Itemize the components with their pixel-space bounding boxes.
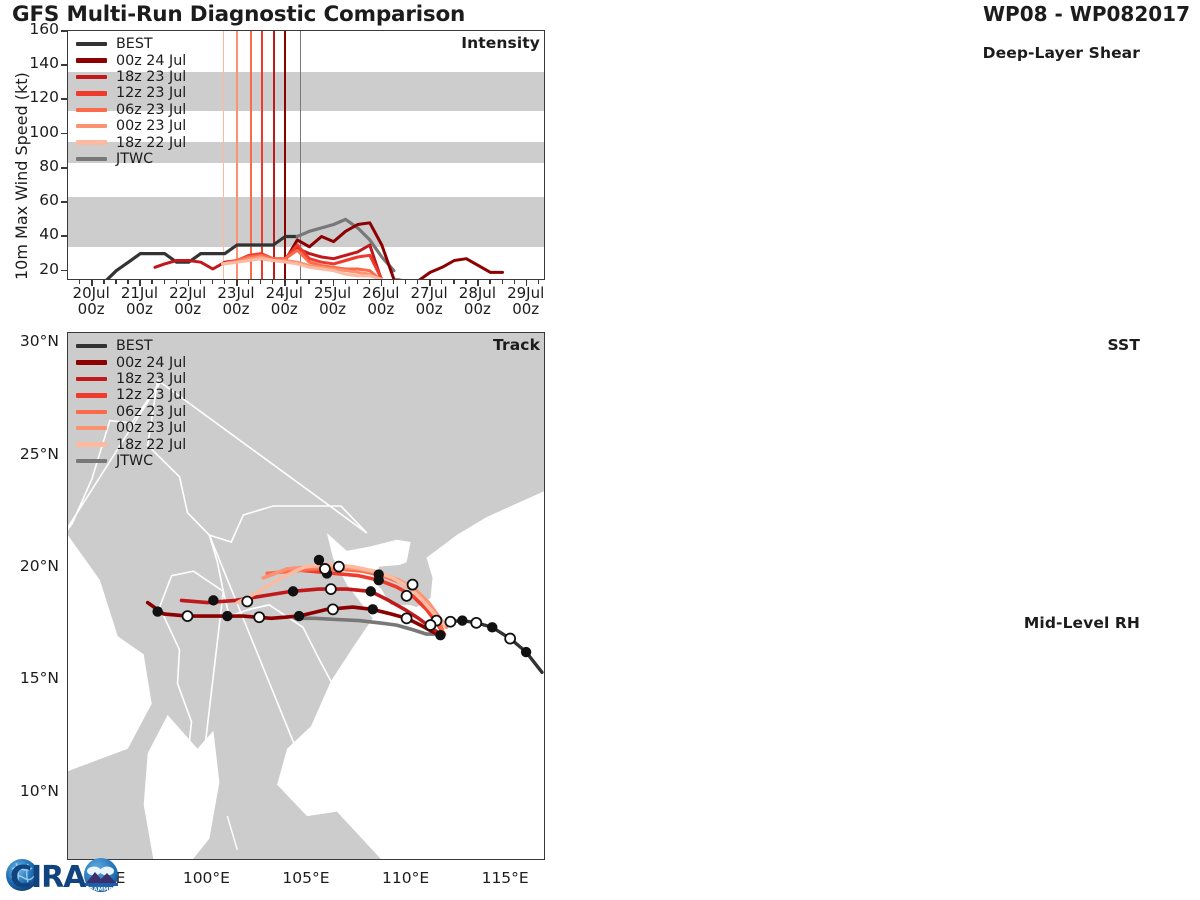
map-lon-tick-label: 100°E: [166, 870, 246, 887]
legend-swatch: [76, 75, 107, 79]
legend-entry-best: BEST: [76, 338, 186, 354]
sst-panel-title: SST: [1107, 336, 1140, 354]
coastline: [227, 816, 237, 850]
panel-track: Track BEST00z 24 Jul18z 23 Jul12z 23 Jul…: [0, 310, 600, 900]
map-lat-tick-label: 10°N: [0, 782, 59, 800]
x-axis-minor-tick: [381, 280, 382, 284]
legend-swatch: [76, 157, 107, 161]
y-axis-tick-mark: [61, 133, 67, 135]
x-axis-minor-tick: [393, 280, 394, 284]
legend-entry-18z-23-jul: 18z 23 Jul: [76, 371, 186, 387]
y-axis-tick-mark: [61, 30, 67, 32]
track-marker-00z: [222, 611, 232, 621]
panel-rh: 700-500 hPa Humidity (%) Mid-Level RH 00…: [600, 600, 1200, 900]
x-axis-minor-tick: [429, 280, 430, 284]
track-marker-00z: [208, 595, 218, 605]
y-axis-tick-mark: [61, 167, 67, 169]
legend-swatch: [76, 91, 107, 95]
track-marker-00z: [368, 604, 378, 614]
track-marker-00z: [457, 615, 467, 625]
x-axis-minor-tick: [272, 280, 273, 284]
panel-shear: 200-850 hPa Shear (kt) Deep-Layer Shear …: [600, 0, 1200, 310]
cira-logo: CIRA RAMMB: [4, 852, 132, 898]
x-axis-minor-tick: [417, 280, 418, 284]
track-marker-12z: [402, 591, 412, 601]
map-lat-tick-label: 15°N: [0, 669, 59, 687]
track-marker-12z: [408, 580, 418, 590]
y-axis-tick-label: 100: [0, 123, 59, 141]
x-axis-minor-tick: [296, 280, 297, 284]
x-axis-minor-tick: [489, 280, 490, 284]
x-axis-minor-tick: [151, 280, 152, 284]
legend-label: 06z 23 Jul: [116, 102, 186, 118]
x-axis-minor-tick: [465, 280, 466, 284]
map-lat-tick-label: 30°N: [0, 332, 59, 350]
y-axis-tick-mark: [61, 270, 67, 272]
legend-entry-06z-23-jul: 06z 23 Jul: [76, 102, 186, 118]
legend-label: BEST: [116, 36, 153, 52]
legend-swatch: [76, 459, 107, 463]
legend-label: 06z 23 Jul: [116, 404, 186, 420]
legend-swatch: [76, 377, 107, 381]
legend-label: 18z 22 Jul: [116, 135, 186, 151]
y-axis-tick-mark: [61, 64, 67, 66]
legend-swatch: [76, 442, 107, 446]
x-axis-minor-tick: [514, 280, 515, 284]
legend-entry-12z-23-jul: 12z 23 Jul: [76, 387, 186, 403]
x-axis-minor-tick: [441, 280, 442, 284]
track-marker-12z: [183, 611, 193, 621]
legend-label: JTWC: [116, 453, 153, 469]
x-axis-minor-tick: [127, 280, 128, 284]
x-axis-minor-tick: [453, 280, 454, 284]
legend-label: 18z 22 Jul: [116, 437, 186, 453]
sea-area: [277, 490, 545, 860]
y-axis-tick-label: 40: [0, 225, 59, 243]
legend-label: 18z 23 Jul: [116, 69, 186, 85]
legend-entry-18z-22-jul: 18z 22 Jul: [76, 134, 186, 150]
track-marker-00z: [487, 622, 497, 632]
track-marker-12z: [328, 604, 338, 614]
track-marker-12z: [402, 613, 412, 623]
x-axis-minor-tick: [284, 280, 285, 284]
gulf-of-thailand-area: [144, 715, 220, 860]
y-axis-tick-mark: [61, 235, 67, 237]
track-marker-12z: [505, 634, 515, 644]
legend-label: 00z 24 Jul: [116, 355, 186, 371]
intensity-legend: BEST00z 24 Jul18z 23 Jul12z 23 Jul06z 23…: [76, 36, 186, 167]
x-axis-minor-tick: [320, 280, 321, 284]
x-axis-minor-tick: [405, 280, 406, 284]
track-marker-12z: [326, 584, 336, 594]
legend-entry-00z-24-jul: 00z 24 Jul: [76, 354, 186, 370]
y-axis-tick-label: 20: [0, 260, 59, 278]
y-axis-tick-label: 120: [0, 88, 59, 106]
x-axis-minor-tick: [139, 280, 140, 284]
legend-entry-00z-23-jul: 00z 23 Jul: [76, 118, 186, 134]
legend-swatch: [76, 108, 107, 112]
legend-label: 00z 24 Jul: [116, 53, 186, 69]
legend-label: 00z 23 Jul: [116, 118, 186, 134]
legend-swatch: [76, 58, 107, 62]
x-axis-minor-tick: [224, 280, 225, 284]
legend-swatch: [76, 344, 107, 348]
y-axis-tick-label: 160: [0, 20, 59, 38]
map-lat-tick-label: 25°N: [0, 445, 59, 463]
x-axis-minor-tick: [212, 280, 213, 284]
bay-of-bengal-area: [68, 535, 152, 771]
y-axis-tick-label: 80: [0, 157, 59, 175]
legend-swatch: [76, 410, 107, 414]
track-marker-00z: [374, 569, 384, 579]
y-axis-tick-label: 140: [0, 54, 59, 72]
x-axis-minor-tick: [176, 280, 177, 284]
legend-entry-00z-23-jul: 00z 23 Jul: [76, 420, 186, 436]
legend-swatch: [76, 140, 107, 144]
panel-intensity: 10m Max Wind Speed (kt) Intensity BEST00…: [0, 0, 600, 310]
track-marker-00z: [435, 630, 445, 640]
y-axis-tick-label: 60: [0, 191, 59, 209]
legend-label: JTWC: [116, 151, 153, 167]
legend-entry-00z-24-jul: 00z 24 Jul: [76, 52, 186, 68]
x-axis-minor-tick: [164, 280, 165, 284]
x-axis-minor-tick: [526, 280, 527, 284]
map-lon-tick-label: 115°E: [465, 870, 545, 887]
track-marker-00z: [152, 606, 162, 616]
legend-label: BEST: [116, 338, 153, 354]
track-marker-12z: [242, 596, 252, 606]
country-border: [249, 605, 269, 610]
svg-text:CIRA: CIRA: [10, 860, 87, 895]
x-axis-minor-tick: [333, 280, 334, 284]
track-marker-00z: [521, 647, 531, 657]
track-marker-00z: [288, 586, 298, 596]
y-axis-tick-mark: [61, 201, 67, 203]
track-marker-12z: [471, 618, 481, 628]
track-marker-12z: [254, 612, 264, 622]
x-axis-minor-tick: [502, 280, 503, 284]
track-panel-title: Track: [493, 336, 540, 354]
legend-entry-12z-23-jul: 12z 23 Jul: [76, 85, 186, 101]
legend-entry-jtwc: JTWC: [76, 151, 186, 167]
track-marker-12z: [445, 617, 455, 627]
x-axis-minor-tick: [357, 280, 358, 284]
x-axis-minor-tick: [345, 280, 346, 284]
legend-entry-18z-22-jul: 18z 22 Jul: [76, 436, 186, 452]
x-axis-minor-tick: [308, 280, 309, 284]
x-axis-minor-tick: [115, 280, 116, 284]
legend-label: 12z 23 Jul: [116, 85, 186, 101]
track-marker-12z: [425, 620, 435, 630]
map-lat-tick-label: 20°N: [0, 557, 59, 575]
legend-swatch: [76, 360, 107, 364]
intensity-panel-title: Intensity: [461, 34, 540, 52]
track-marker-00z: [294, 611, 304, 621]
legend-entry-18z-23-jul: 18z 23 Jul: [76, 69, 186, 85]
track-marker-12z: [334, 562, 344, 572]
legend-label: 00z 23 Jul: [116, 420, 186, 436]
legend-swatch: [76, 42, 107, 46]
legend-entry-06z-23-jul: 06z 23 Jul: [76, 404, 186, 420]
x-axis-minor-tick: [538, 280, 539, 284]
x-axis-minor-tick: [200, 280, 201, 284]
x-axis-minor-tick: [248, 280, 249, 284]
legend-label: 18z 23 Jul: [116, 371, 186, 387]
rh-panel-title: Mid-Level RH: [1024, 614, 1140, 632]
legend-entry-jtwc: JTWC: [76, 453, 186, 469]
x-axis-minor-tick: [477, 280, 478, 284]
logo-sub-label: RAMMB: [89, 887, 113, 893]
track-legend: BEST00z 24 Jul18z 23 Jul12z 23 Jul06z 23…: [76, 338, 186, 469]
x-axis-minor-tick: [236, 280, 237, 284]
legend-swatch: [76, 426, 107, 430]
x-axis-minor-tick: [260, 280, 261, 284]
legend-entry-best: BEST: [76, 36, 186, 52]
x-axis-minor-tick: [91, 280, 92, 284]
y-axis-tick-mark: [61, 98, 67, 100]
x-axis-minor-tick: [188, 280, 189, 284]
map-lon-tick-label: 110°E: [366, 870, 446, 887]
map-lon-tick-label: 105°E: [266, 870, 346, 887]
legend-swatch: [76, 393, 107, 397]
x-axis-minor-tick: [369, 280, 370, 284]
panel-sst: Sea Surface Temp (°C) SST 00z 24 Jul18z …: [600, 310, 1200, 600]
x-axis-minor-tick: [79, 280, 80, 284]
track-marker-12z: [320, 564, 330, 574]
legend-swatch: [76, 124, 107, 128]
track-marker-00z: [366, 586, 376, 596]
legend-label: 12z 23 Jul: [116, 387, 186, 403]
shear-panel-title: Deep-Layer Shear: [983, 44, 1140, 62]
x-axis-minor-tick: [103, 280, 104, 284]
